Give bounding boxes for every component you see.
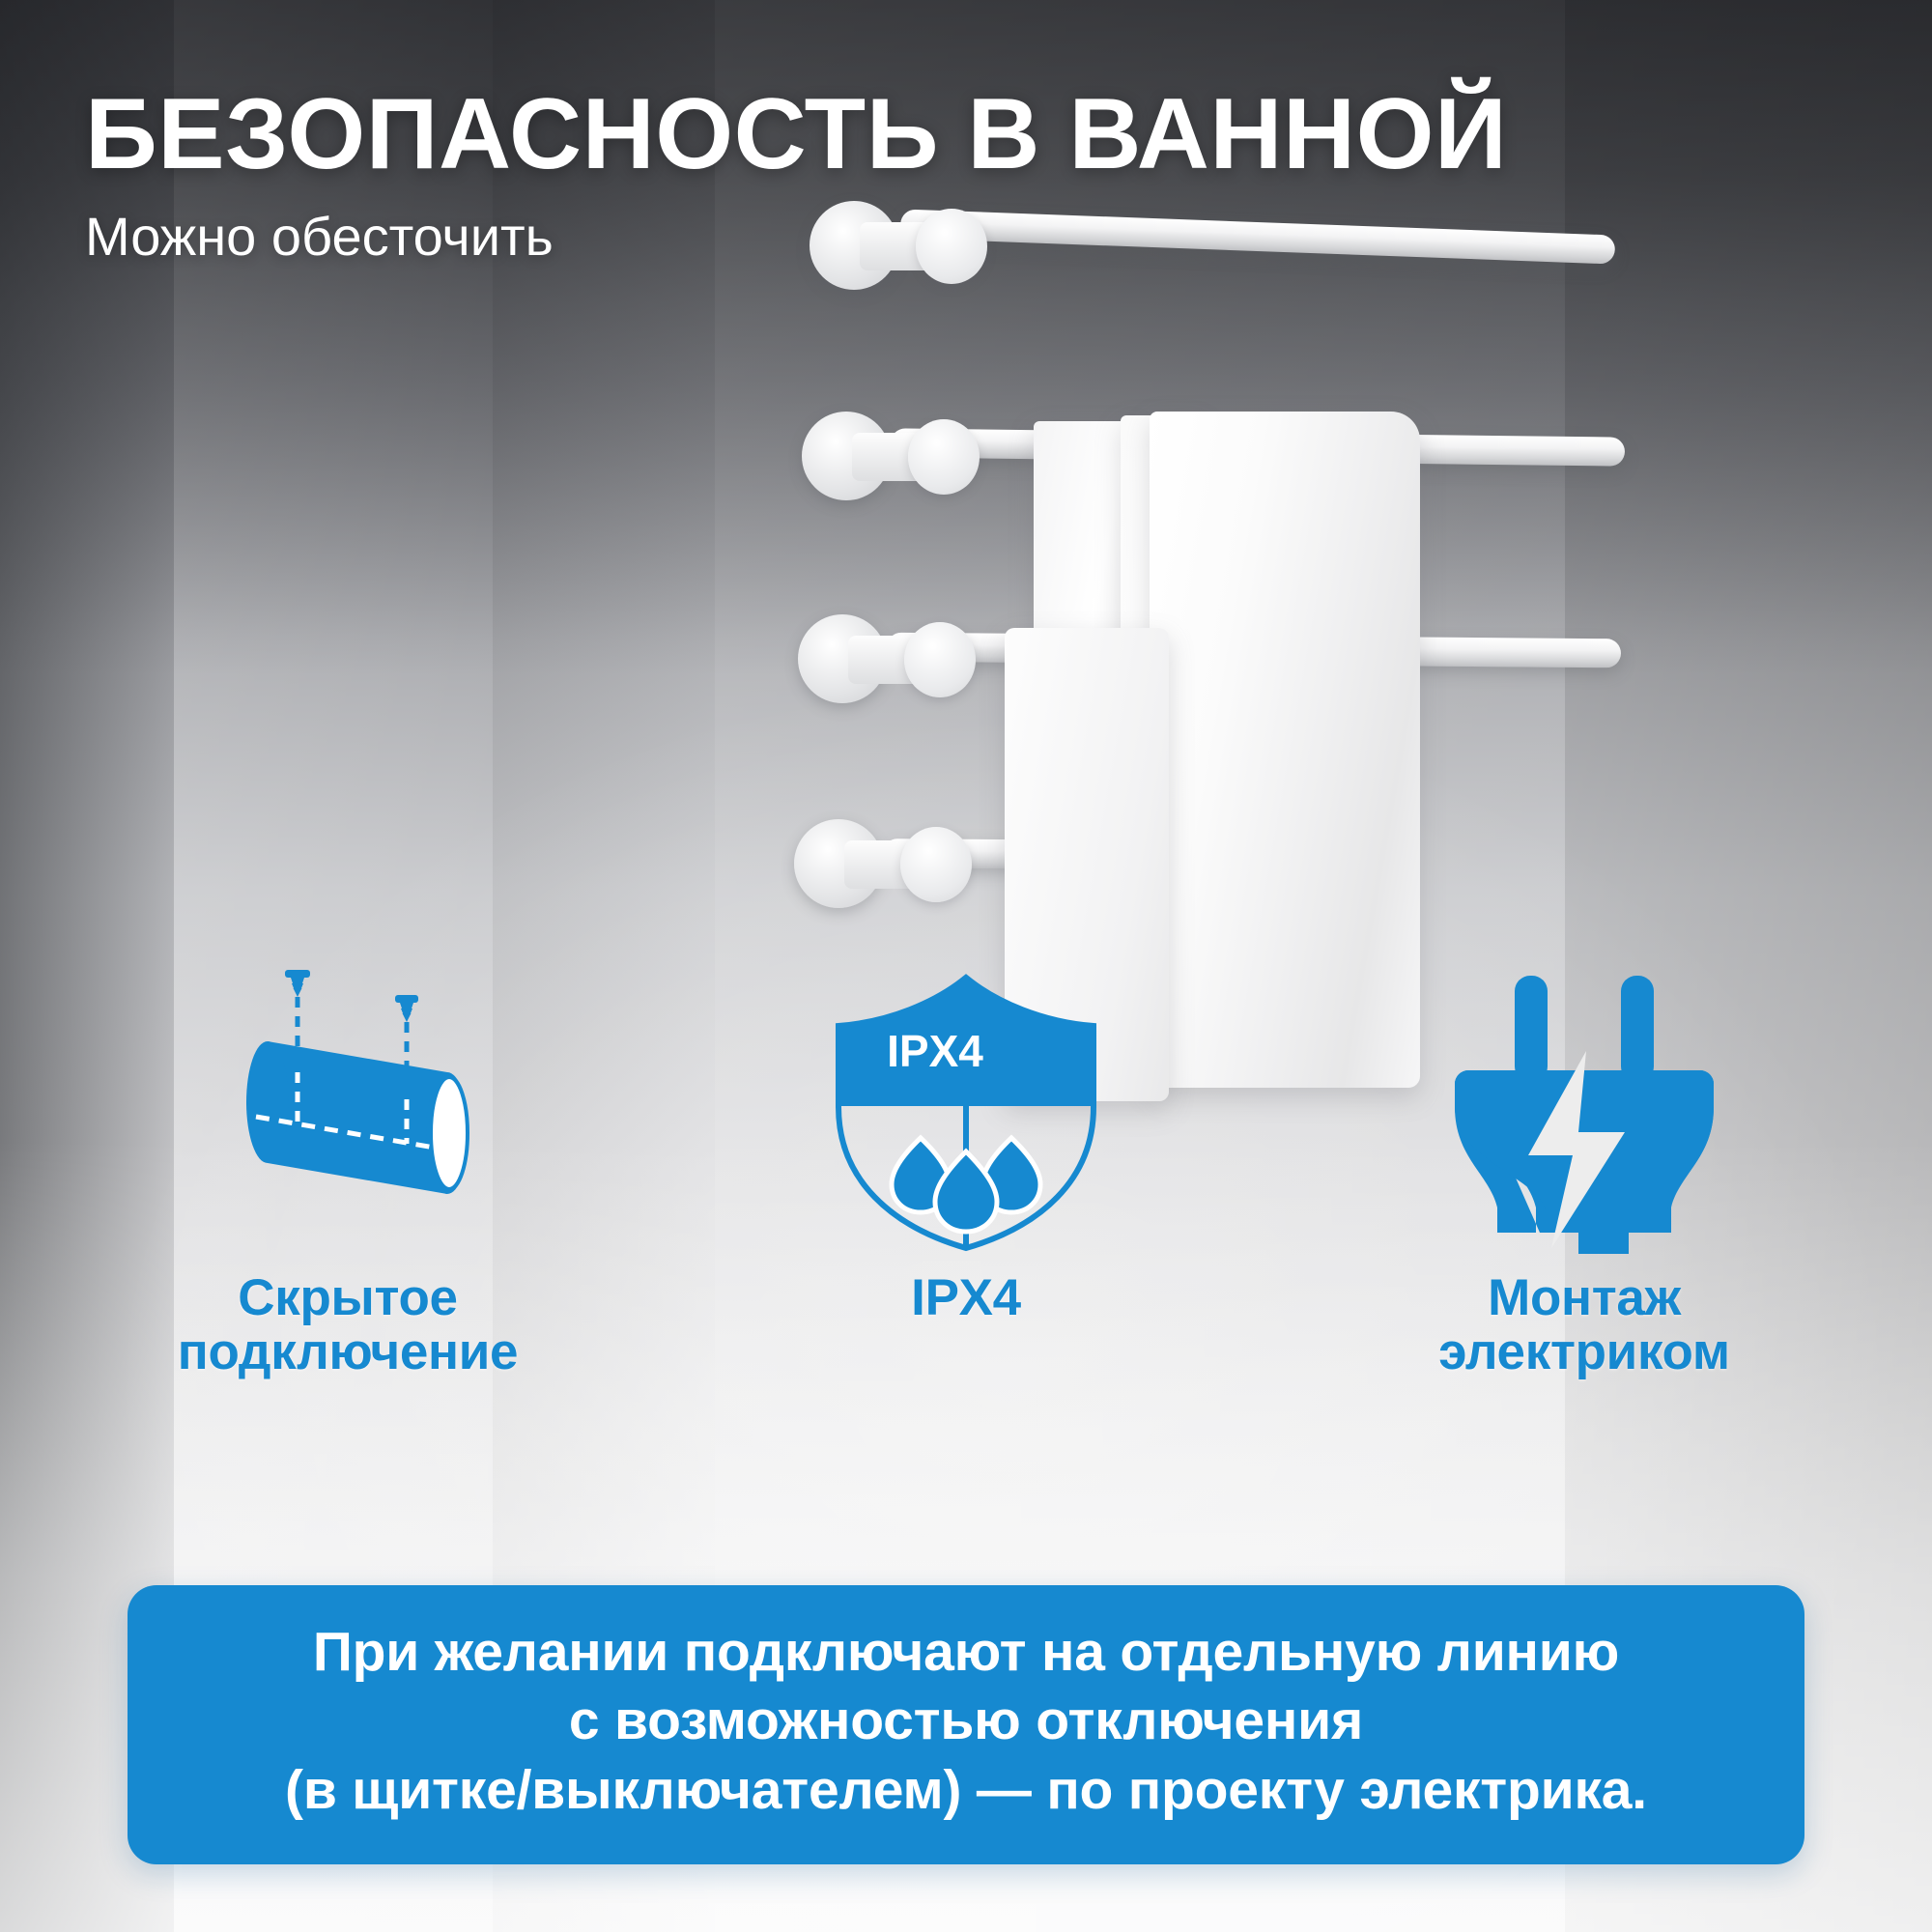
screw-icon-2 [395,995,418,1022]
shield-badge-text: IPX4 [887,1026,983,1076]
banner-line-3: (в щитке/выключателем) — по проекту элек… [170,1756,1762,1826]
feature-art [1439,966,1729,1256]
feature-art: IPX4 [821,966,1111,1256]
feature-caption-line1: Монтаж [1438,1271,1730,1325]
mount-cap [904,622,976,697]
headline-block: БЕЗОПАСНОСТЬ В ВАННОЙ Можно обесточить [85,83,1592,267]
feature-art [188,966,507,1256]
pipe-body [246,1041,469,1194]
bottom-note-banner: При желании подключают на отдельную лини… [128,1585,1804,1864]
page-subtitle: Можно обесточить [85,207,1592,267]
feature-caption: Скрытое подключение [178,1271,518,1379]
plug-prong-left [1515,976,1548,1082]
feature-caption-line2: электриком [1438,1325,1730,1379]
banner-line-1: При желании подключают на отдельную лини… [170,1618,1762,1688]
electric-plug-icon [1439,966,1729,1256]
feature-ipx4: IPX4 IPX4 [676,966,1256,1325]
page-title: БЕЗОПАСНОСТЬ В ВАННОЙ [85,83,1592,185]
infographic-poster: БЕЗОПАСНОСТЬ В ВАННОЙ Можно обесточить [0,0,1932,1932]
water-drops-icon [892,1138,1040,1232]
feature-caption-line1: Скрытое [178,1271,518,1325]
feature-hidden-connection: Скрытое подключение [58,966,638,1379]
plug-prong-right [1621,976,1654,1082]
shield-ipx4-icon: IPX4 [821,966,1111,1256]
feature-caption-line1: IPX4 [911,1271,1021,1325]
pipe-hidden-connection-icon [188,966,507,1256]
feature-electrician-install: Монтаж электриком [1294,966,1874,1379]
feature-caption: IPX4 [911,1271,1021,1325]
mount-cap [900,827,972,902]
banner-line-2: с возможностью отключения [170,1687,1762,1756]
feature-caption-line2: подключение [178,1325,518,1379]
screw-icon-1 [285,970,310,997]
mount-cap [908,419,980,495]
feature-row: Скрытое подключение [58,966,1874,1430]
feature-caption: Монтаж электриком [1438,1271,1730,1379]
